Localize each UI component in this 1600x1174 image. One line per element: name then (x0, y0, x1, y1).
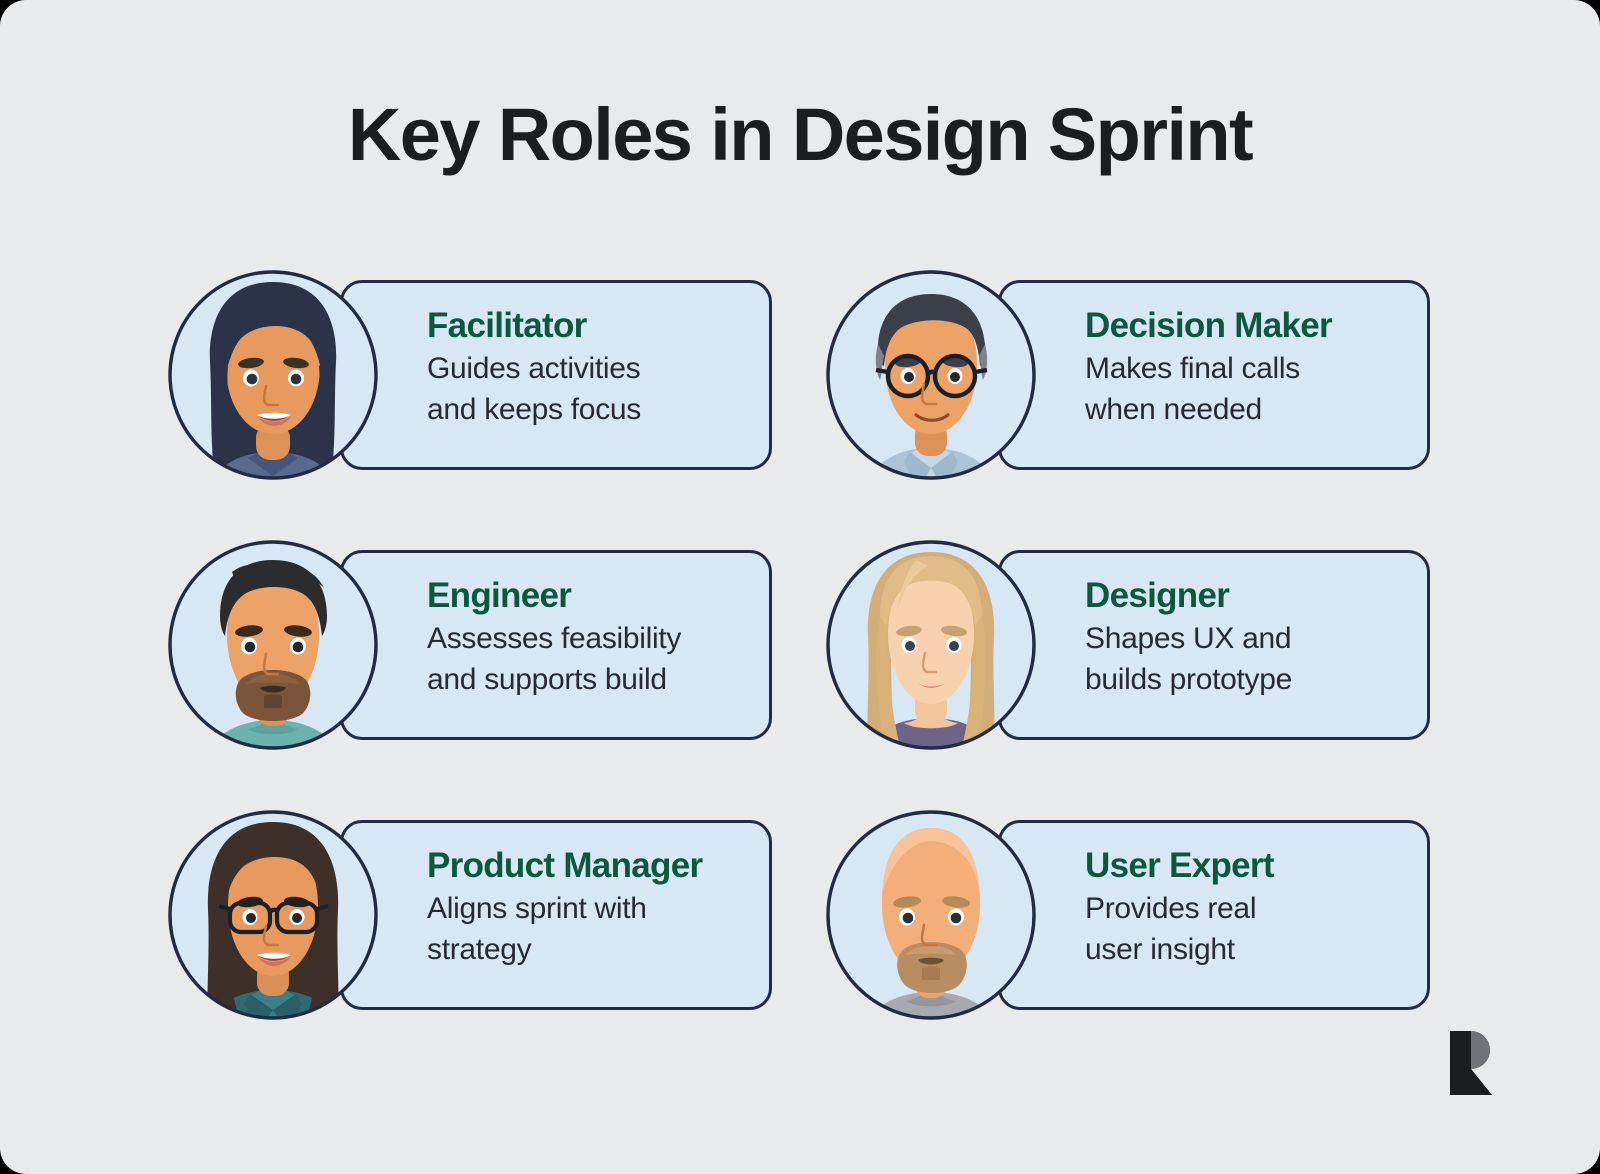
role-description-line-1: Aligns sprint with (427, 889, 755, 930)
infographic-poster: Key Roles in Design Sprint Facilitator G… (0, 0, 1600, 1174)
role-description-line-1: Guides activities (427, 349, 755, 390)
avatar-user-expert (818, 802, 1044, 1028)
role-title: Product Manager (427, 847, 755, 885)
avatar-product-manager (160, 802, 386, 1028)
role-description-line-1: Provides real (1085, 889, 1413, 930)
avatar-decision-maker (818, 262, 1044, 488)
role-description: Provides real user insight (1085, 889, 1413, 971)
role-card-text: Product Manager Aligns sprint with strat… (427, 847, 755, 970)
role-card-facilitator[interactable]: Facilitator Guides activities and keeps … (160, 262, 772, 488)
role-description-line-2: and supports build (427, 660, 755, 701)
role-card-text: Engineer Assesses feasibility and suppor… (427, 577, 755, 700)
role-card-user-expert[interactable]: User Expert Provides real user insight (818, 802, 1430, 1028)
role-card-panel: User Expert Provides real user insight (998, 820, 1430, 1010)
role-description: Shapes UX and builds prototype (1085, 619, 1413, 701)
role-card-panel: Facilitator Guides activities and keeps … (340, 280, 772, 470)
role-card-text: Designer Shapes UX and builds prototype (1085, 577, 1413, 700)
letter-r-logo (1448, 1030, 1494, 1096)
avatar-engineer (160, 532, 386, 758)
role-description-line-2: user insight (1085, 930, 1413, 971)
role-title: Engineer (427, 577, 755, 615)
role-title: Designer (1085, 577, 1413, 615)
role-card-designer[interactable]: Designer Shapes UX and builds prototype (818, 532, 1430, 758)
role-card-text: Facilitator Guides activities and keeps … (427, 307, 755, 430)
role-title: User Expert (1085, 847, 1413, 885)
role-description-line-1: Assesses feasibility (427, 619, 755, 660)
roles-grid: Facilitator Guides activities and keeps … (160, 262, 1440, 1032)
page-title: Key Roles in Design Sprint (0, 98, 1600, 172)
avatar-facilitator (160, 262, 386, 488)
role-description-line-2: when needed (1085, 390, 1413, 431)
role-card-panel: Product Manager Aligns sprint with strat… (340, 820, 772, 1010)
role-description: Makes final calls when needed (1085, 349, 1413, 431)
role-card-product-manager[interactable]: Product Manager Aligns sprint with strat… (160, 802, 772, 1028)
role-title: Facilitator (427, 307, 755, 345)
role-card-text: User Expert Provides real user insight (1085, 847, 1413, 970)
role-description-line-2: builds prototype (1085, 660, 1413, 701)
role-description: Guides activities and keeps focus (427, 349, 755, 431)
role-description-line-2: and keeps focus (427, 390, 755, 431)
role-card-panel: Engineer Assesses feasibility and suppor… (340, 550, 772, 740)
role-description: Aligns sprint with strategy (427, 889, 755, 971)
role-description: Assesses feasibility and supports build (427, 619, 755, 701)
avatar-designer (818, 532, 1044, 758)
role-card-text: Decision Maker Makes final calls when ne… (1085, 307, 1413, 430)
role-card-decision-maker[interactable]: Decision Maker Makes final calls when ne… (818, 262, 1430, 488)
role-description-line-2: strategy (427, 930, 755, 971)
role-title: Decision Maker (1085, 307, 1413, 345)
role-card-panel: Decision Maker Makes final calls when ne… (998, 280, 1430, 470)
role-card-panel: Designer Shapes UX and builds prototype (998, 550, 1430, 740)
role-description-line-1: Shapes UX and (1085, 619, 1413, 660)
role-card-engineer[interactable]: Engineer Assesses feasibility and suppor… (160, 532, 772, 758)
role-description-line-1: Makes final calls (1085, 349, 1413, 390)
